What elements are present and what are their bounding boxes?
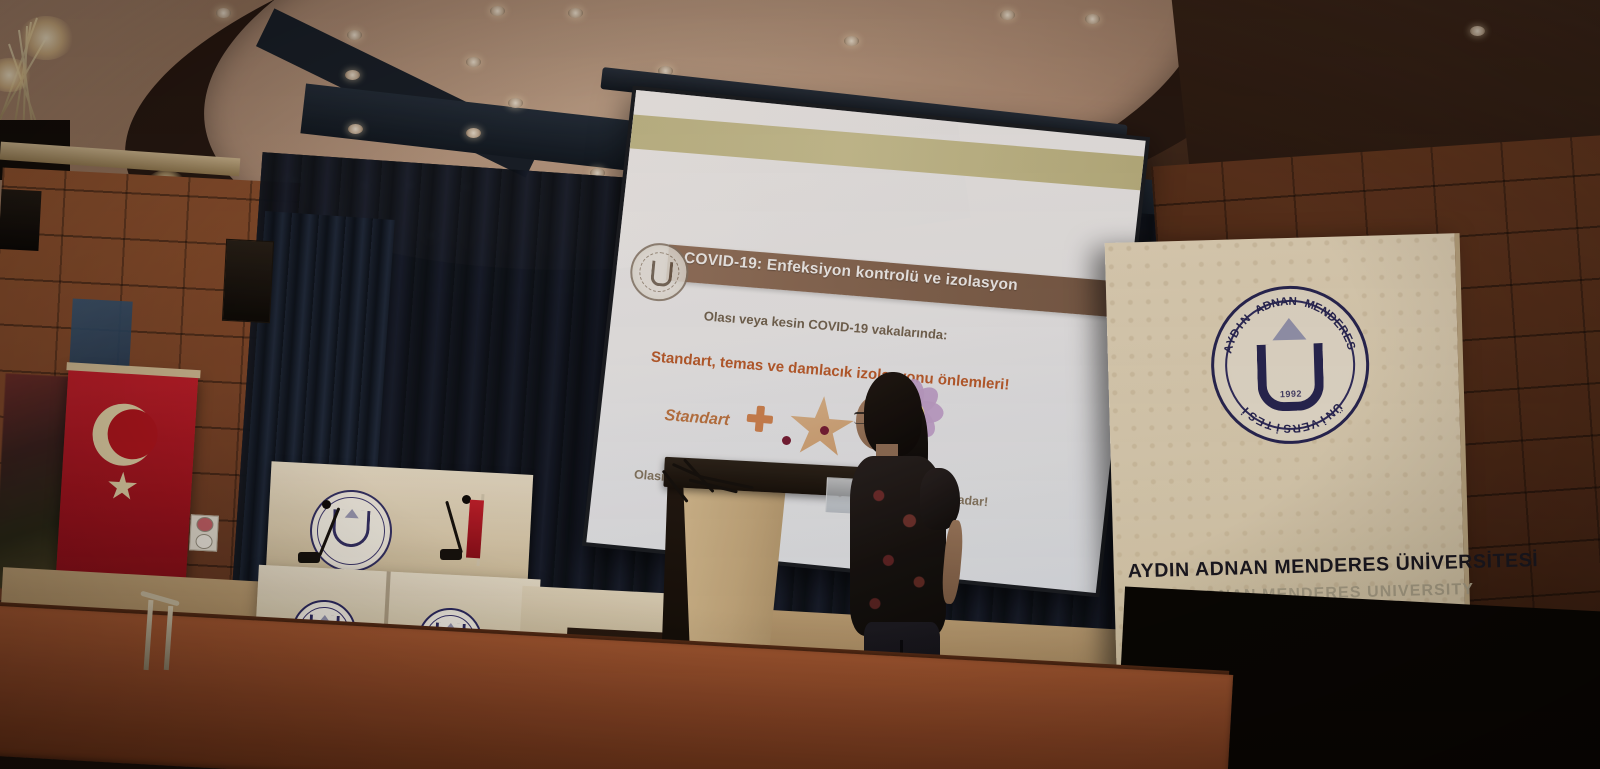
seal-arc-char: R xyxy=(1292,421,1301,434)
slide-line-3: Standart xyxy=(664,407,730,430)
star-icon xyxy=(107,471,139,503)
seal-arc-char: S xyxy=(1283,422,1291,434)
conference-hall-photo: COVID-19: Enfeksiyon kontrolü ve izolasy… xyxy=(0,0,1600,769)
seal-arc-char: İ xyxy=(1275,421,1280,433)
seal-glyph xyxy=(650,261,673,288)
downlight-icon xyxy=(1000,10,1015,20)
downlight-icon xyxy=(1085,14,1100,24)
lamp-glow xyxy=(18,16,74,60)
wall-signal-plates xyxy=(189,514,219,551)
crescent-icon xyxy=(91,402,157,468)
loudspeaker xyxy=(222,239,274,323)
downlight-icon xyxy=(347,30,362,40)
downlight-icon xyxy=(508,98,523,108)
downlight-icon xyxy=(466,57,481,67)
downlight-icon xyxy=(490,6,505,16)
loudspeaker xyxy=(0,189,42,251)
downlight-icon xyxy=(568,8,583,18)
seal-chevron-icon xyxy=(1272,317,1307,340)
turkish-flag xyxy=(56,368,199,586)
downlight-icon xyxy=(348,124,363,134)
indicator-red-icon xyxy=(196,517,214,533)
downlight-icon xyxy=(844,36,859,46)
downlight-icon xyxy=(345,70,360,80)
university-seal-icon: AYDIN ADNAN MENDERES ÜNİVERSİTESİ 1992 xyxy=(1209,284,1371,446)
plus-icon xyxy=(746,405,774,433)
seal-year: 1992 xyxy=(1280,389,1302,400)
downlight-icon xyxy=(466,128,481,138)
indicator-white-icon xyxy=(195,534,213,550)
banner-name-turkish: AYDIN ADNAN MENDERES ÜNİVERSİTESİ xyxy=(1128,551,1459,583)
downlight-icon xyxy=(216,8,231,18)
seal-glyph xyxy=(1257,343,1325,412)
downlight-icon xyxy=(1470,26,1485,36)
slide-line-1: Olası veya kesin COVID-19 vakalarında: xyxy=(703,308,948,342)
